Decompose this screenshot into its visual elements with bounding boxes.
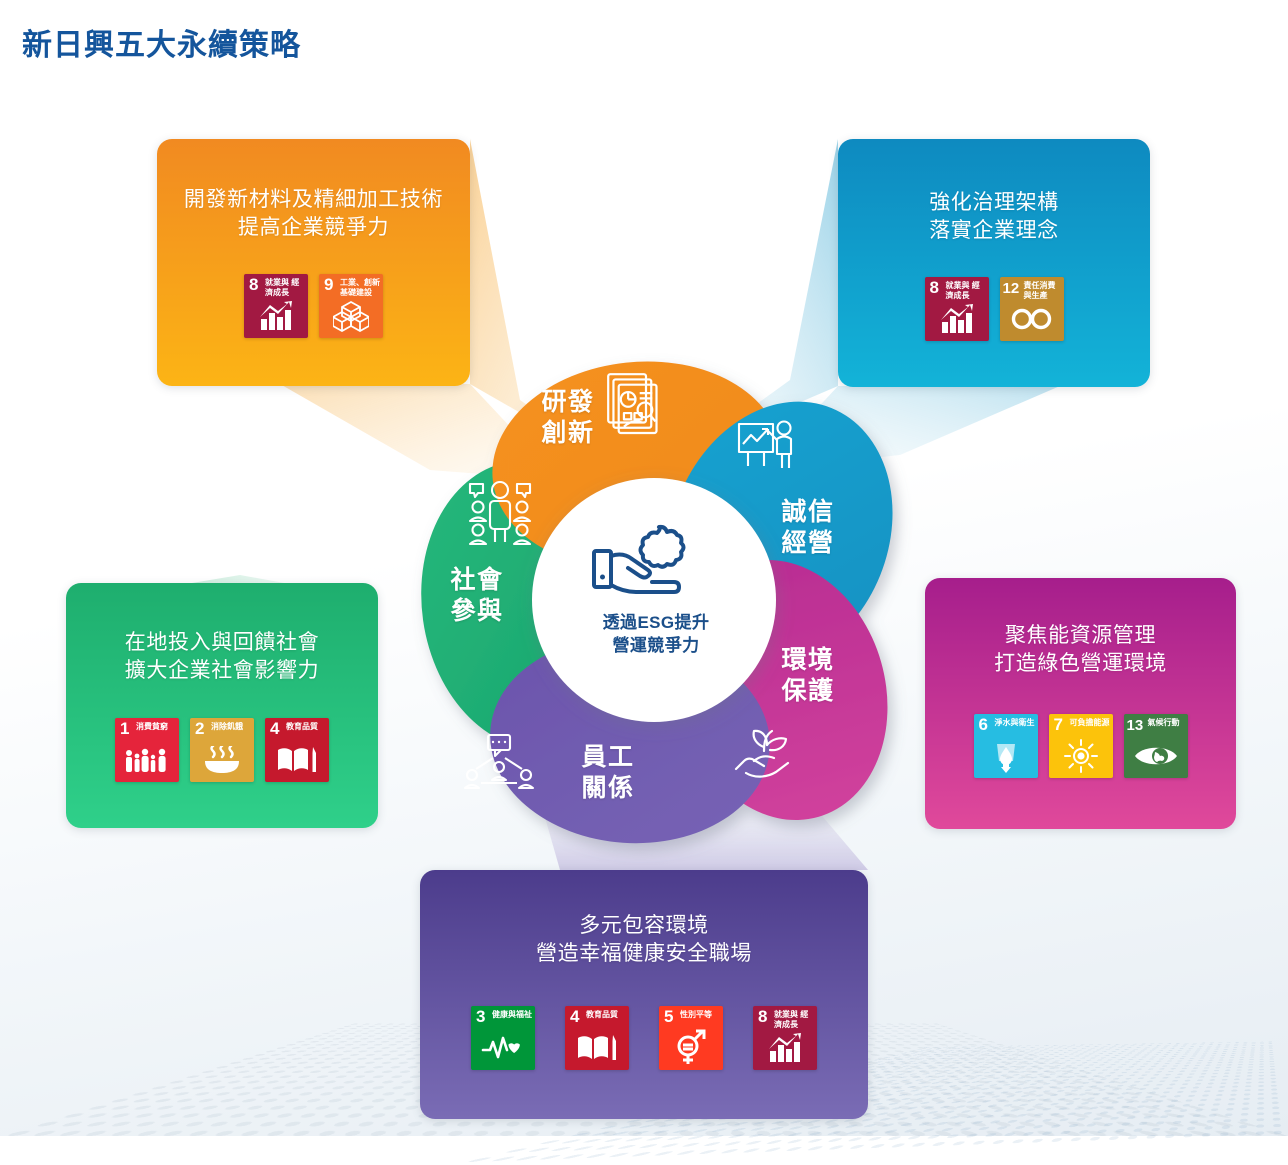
sdg-family-icon [115,741,179,779]
sdg-number: 12 [1003,281,1020,296]
card-employee-sdg-row: 3 健康與福祉 4 教育品質 5 性別平等 [471,1006,817,1070]
card-rd-sdg-row: 8 就業與 經濟成長 9 工業、創新 基礎建設 [244,274,383,338]
sdg-tile-5[interactable]: 5 性別平等 [659,1006,723,1070]
sdg-number: 7 [1054,716,1063,733]
card-environment-title: 聚焦能資源管理 打造綠色營運環境 [994,622,1167,678]
sdg-number: 8 [930,279,939,296]
sdg-number: 8 [249,276,258,293]
card-employee[interactable]: 多元包容環境 營造幸福健康安全職場 3 健康與福祉 4 教育品質 [420,870,868,1119]
sdg-goal-label: 就業與 經濟成長 [265,278,305,298]
sdg-gender-icon [659,1029,723,1067]
card-employee-title: 多元包容環境 營造幸福健康安全職場 [536,912,752,968]
card-environment-sdg-row: 6 淨水與衛生 7 可負擔能源 13 氣 [974,714,1188,778]
sdg-number: 2 [195,720,204,737]
esg-strategy-wheel [382,345,922,855]
sdg-number: 9 [324,276,333,293]
sdg-tile-6[interactable]: 6 淨水與衛生 [974,714,1038,778]
sdg-book-icon [565,1029,629,1067]
sdg-goal-label: 淨水與衛生 [995,718,1035,728]
card-society[interactable]: 在地投入與回饋社會 擴大企業社會影響力 1 消費貧窮 2 消除飢餓 [66,583,378,828]
sdg-number: 4 [570,1008,579,1025]
hub-caption: 透過ESG提升 營運競爭力 [566,612,746,658]
sdg-growth-chart-icon [925,300,989,338]
sdg-tile-13[interactable]: 13 氣候行動 [1124,714,1188,778]
sdg-goal-label: 就業與 經濟成長 [774,1010,814,1030]
sdg-goal-label: 工業、創新 基礎建設 [340,278,380,298]
sdg-tile-3[interactable]: 3 健康與福祉 [471,1006,535,1070]
card-society-title: 在地投入與回饋社會 擴大企業社會影響力 [125,629,319,685]
sdg-growth-chart-icon [244,297,308,335]
sdg-number: 8 [758,1008,767,1025]
sdg-number: 6 [979,716,988,733]
sdg-water-icon [974,737,1038,775]
sdg-tile-1[interactable]: 1 消費貧窮 [115,718,179,782]
sdg-goal-label: 責任消費 與生產 [1024,281,1061,301]
sdg-goal-label: 可負擔能源 [1070,718,1110,728]
card-rd-title: 開發新材料及精細加工技術 提高企業競爭力 [184,186,443,242]
sdg-tile-9[interactable]: 9 工業、創新 基礎建設 [319,274,383,338]
sdg-tile-8[interactable]: 8 就業與 經濟成長 [753,1006,817,1070]
card-society-sdg-row: 1 消費貧窮 2 消除飢餓 [115,718,329,782]
sdg-growth-chart-icon [753,1029,817,1067]
sdg-goal-label: 教育品質 [586,1010,626,1020]
sdg-goal-label: 健康與福祉 [492,1010,532,1020]
card-integrity-title: 強化治理架構 落實企業理念 [929,189,1059,245]
sdg-tile-12[interactable]: 12 責任消費 與生產 [1000,277,1064,341]
sdg-sun-icon [1049,737,1113,775]
sdg-goal-label: 消除飢餓 [211,722,251,732]
card-environment[interactable]: 聚焦能資源管理 打造綠色營運環境 6 淨水與衛生 7 可負擔能源 [925,578,1236,829]
sdg-tile-8[interactable]: 8 就業與 經濟成長 [244,274,308,338]
sdg-goal-label: 氣候行動 [1148,718,1185,728]
sdg-infinity-icon [1000,300,1064,338]
sdg-number: 13 [1127,718,1144,733]
sdg-goal-label: 性別平等 [680,1010,720,1020]
sdg-book-icon [265,741,329,779]
sdg-number: 5 [664,1008,673,1025]
sdg-number: 4 [270,720,279,737]
sdg-tile-2[interactable]: 2 消除飢餓 [190,718,254,782]
sdg-number: 1 [120,720,129,737]
sdg-number: 3 [476,1008,485,1025]
sdg-goal-label: 消費貧窮 [136,722,176,732]
sdg-eye-earth-icon [1124,737,1188,775]
sdg-tile-8[interactable]: 8 就業與 經濟成長 [925,277,989,341]
sdg-tile-4[interactable]: 4 教育品質 [265,718,329,782]
sdg-cubes-icon [319,297,383,335]
card-integrity-sdg-row: 8 就業與 經濟成長 12 責任消費 與生產 [925,277,1064,341]
sdg-goal-label: 教育品質 [286,722,326,732]
sdg-heartbeat-icon [471,1029,535,1067]
sdg-tile-7[interactable]: 7 可負擔能源 [1049,714,1113,778]
sdg-tile-4[interactable]: 4 教育品質 [565,1006,629,1070]
sdg-bowl-icon [190,741,254,779]
sdg-goal-label: 就業與 經濟成長 [946,281,986,301]
hub-circle[interactable] [532,478,776,722]
page-title: 新日興五大永續策略 [22,20,301,64]
